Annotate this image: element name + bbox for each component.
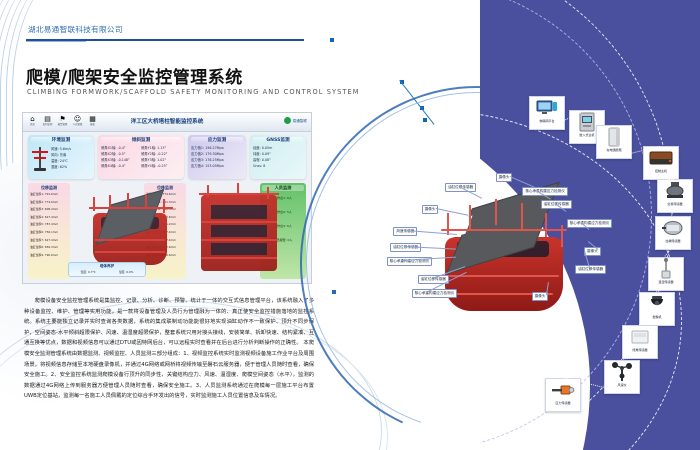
device-chip-iot-platform[interactable]: 物联网平台 — [529, 96, 565, 130]
model-post-4 — [521, 203, 523, 229]
displacement-row: 油缸位移3: 608.4mm — [30, 206, 68, 214]
monitor-card-row: 应力值4: 153.05Mpa — [191, 163, 243, 169]
tower-maintenance-caption: 塔体养护 温度: 0.7℃ 湿度: 0.0% — [68, 262, 146, 277]
displacement-row: 油缸位移4: 627.4mm — [30, 214, 68, 222]
model-post-6 — [561, 225, 563, 247]
device-chip-stress-sensor[interactable]: 拉绳传感器 — [655, 216, 691, 250]
monitor-card-row: 环境监测风速: 5.6m/s风向: 东南温度: 24℃湿度: 62%倾斜监测倾角… — [28, 135, 306, 179]
callout-wind-sensor: 风速传感器 — [393, 227, 417, 236]
model-post-1 — [447, 213, 449, 235]
monitor-card-title: 应力监测 — [191, 137, 243, 143]
device-chip-label: 倾角传感器 — [624, 348, 656, 353]
caption-left-value: 温度: 0.7℃ — [81, 269, 96, 275]
monitor-card[interactable]: 倾斜监测倾角X1轴: -0.4°倾角Y1轴: 1.13°倾角X2轴: -0.5°… — [98, 135, 184, 179]
displacement-row: 油缸位移1: 791.6mm — [30, 191, 68, 199]
monitor-card-title: 倾斜监测 — [101, 137, 181, 143]
device-chip-disp-sensor[interactable]: 位移传感器 — [657, 179, 693, 213]
model-post-3 — [495, 199, 497, 225]
screenshot-main-area: 位移监测 油缸位移1: 791.6mm油缸位移2: 774.6mm油缸位移3: … — [28, 183, 306, 279]
callout-camera-2: 摄像头 — [422, 205, 439, 214]
logo-text: 易通智联 — [293, 119, 307, 123]
callout-cylinder-disp-5: 油缸位移传感器 — [575, 265, 606, 274]
monitor-card-title: 环境监测 — [31, 137, 91, 143]
left-displacement-panel: 位移监测 油缸位移1: 791.6mm油缸位移2: 774.6mm油缸位移3: … — [28, 183, 70, 279]
model-post-2 — [469, 205, 471, 229]
company-name: 湖北易通智联科技有限公司 — [28, 24, 123, 35]
probe-icon — [649, 258, 683, 280]
device-chip-temp-sensor[interactable]: 温湿传感器 — [648, 257, 684, 291]
cylinder-icon — [658, 180, 692, 202]
device-chip-label: 摄像机 — [641, 315, 673, 320]
callout-stress-2: 核心承重构建应力检测仪 — [567, 219, 613, 228]
page-subtitle: CLIMBING FORMWORK/SCAFFOLD SAFETY MONITO… — [27, 88, 360, 96]
screenshot-app-title: 洋工区大桥塔柱智能监控系统 — [23, 117, 311, 125]
displacement-row: 油缸位移7: 627.4mm — [30, 237, 68, 245]
displacement-row: 油缸位移8: 656.3mm — [30, 244, 68, 252]
accent-square-1 — [330, 38, 334, 42]
gauge-icon — [656, 217, 690, 239]
building-model-a — [87, 187, 177, 271]
model-3d-left: 塔体养护 温度: 0.7℃ 湿度: 0.0% — [73, 183, 141, 279]
dome-camera-icon — [640, 293, 674, 315]
cabinet-tall-icon — [597, 126, 631, 148]
weather-station-icon — [31, 145, 49, 171]
screenshot-toolbar: ⌂首页▤实时监测⚑报警管理☺人员管理▦报表 洋工区大桥塔柱智能监控系统 易通智联 — [23, 113, 311, 132]
monitor-icon — [530, 97, 564, 119]
model-3d-right — [189, 183, 257, 279]
device-chip-label: 拉绳传感器 — [657, 239, 689, 244]
anemometer-icon — [605, 361, 639, 383]
displacement-row: 油缸位移2: 774.6mm — [30, 199, 68, 207]
box-icon — [623, 326, 657, 348]
device-chip-label: 充电储能箱 — [598, 148, 630, 153]
monitor-card-row: 倾角Y4轴: -0.25° — [141, 163, 181, 169]
body-paragraph: 爬模设备安全监控管理系统是集监控、记录、分析、诊断、预警、统计于一体的交互式信息… — [24, 296, 314, 402]
device-chip-tilt-sensor[interactable]: 倾角传感器 — [622, 325, 658, 359]
page-title: 爬模/爬架安全监控管理系统 — [26, 63, 243, 88]
monitor-card[interactable]: 环境监测风速: 5.6m/s风向: 东南温度: 24℃湿度: 62% — [28, 135, 94, 179]
callout-cylinder-disp-3: 油缸位移传感器 — [390, 243, 421, 252]
header-divider — [26, 39, 304, 41]
device-chip-controller[interactable]: 控制主机 — [643, 146, 679, 180]
callout-camera-1: 摄像头 — [496, 173, 513, 182]
monitor-card[interactable]: GNSS监测经度: 0.05m纬度: 0.09°高程: 0.08°Gnss: 8 — [250, 135, 306, 179]
screenshot-logo: 易通智联 — [284, 117, 307, 124]
model-rail-mid — [449, 275, 559, 277]
page-root: 湖北易通智联科技有限公司 爬模/爬架安全监控管理系统 CLIMBING FORM… — [0, 0, 700, 450]
device-chip-label: 应力传感器 — [547, 401, 579, 406]
monitor-card[interactable]: 应力监测应力值1: 156.27Mpa应力值2: 179.30Mpa应力值3: … — [188, 135, 246, 179]
callout-stress-4: 核心承重构建应力检测仪 — [412, 289, 458, 298]
monitor-card-row: 倾角X4轴: -0.4° — [101, 163, 141, 169]
device-chip-label: 温湿传感器 — [650, 280, 682, 285]
model-post-5 — [545, 213, 547, 237]
monitor-card-title: GNSS监测 — [253, 137, 303, 143]
pressure-icon — [546, 379, 580, 401]
displacement-row: 油缸位移5: 787.4mm — [30, 221, 68, 229]
device-chip-camera-device[interactable]: 摄像机 — [639, 292, 675, 326]
displacement-row: 油缸位移9: 790.6mm — [30, 252, 68, 260]
system-screenshot: ⌂首页▤实时监测⚑报警管理☺人员管理▦报表 洋工区大桥塔柱智能监控系统 易通智联… — [22, 112, 312, 284]
monitor-card-row: 湿度: 62% — [51, 164, 91, 170]
caption-right-value: 湿度: 0.0% — [119, 269, 134, 275]
displacement-row: 油缸位移6: 756.1mm — [30, 229, 68, 237]
model-rail-top — [441, 229, 567, 231]
device-chip-label: 位移传感器 — [659, 202, 691, 207]
monitor-card-row: Gnss: 8 — [253, 163, 303, 169]
device-chip-pressure-sensor[interactable]: 应力传感器 — [545, 378, 581, 412]
env-card-body: 风速: 5.6m/s风向: 东南温度: 24℃湿度: 62% — [31, 145, 91, 171]
building-model-b — [197, 185, 283, 275]
device-chip-label: 控制主机 — [645, 169, 677, 174]
logo-mark-icon — [284, 117, 291, 124]
